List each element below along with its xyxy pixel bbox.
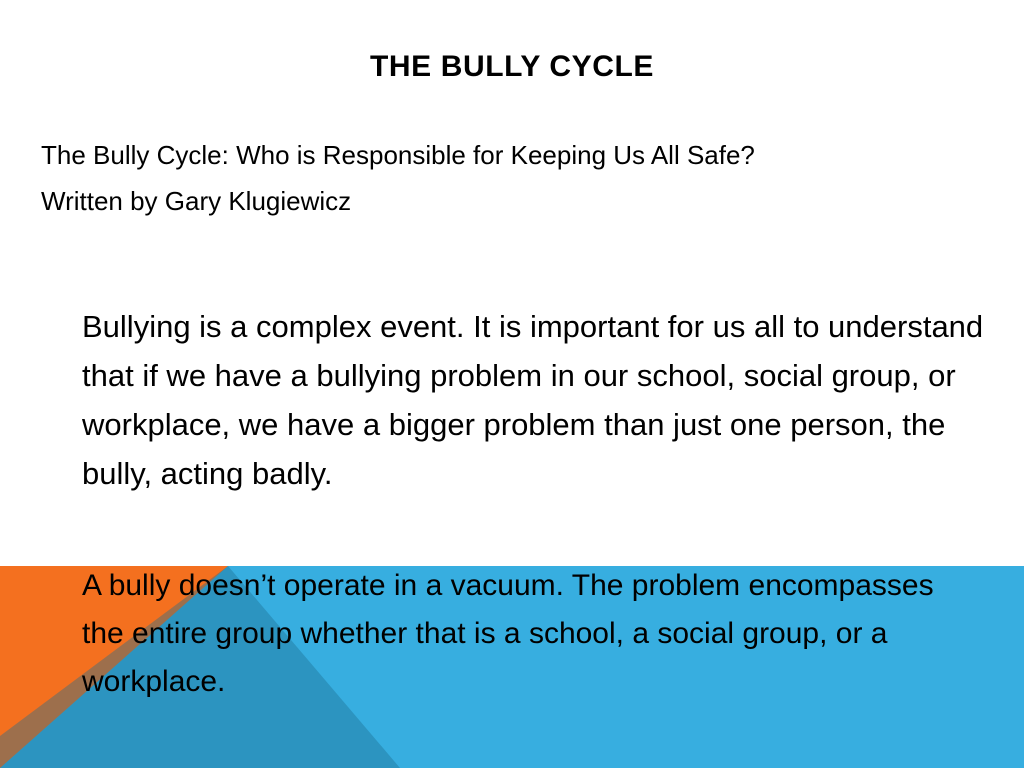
slide-canvas: THE BULLY CYCLE The Bully Cycle: Who is …	[0, 0, 1024, 768]
subtitle-line-1: The Bully Cycle: Who is Responsible for …	[41, 132, 971, 178]
page-title: THE BULLY CYCLE	[0, 50, 1024, 84]
subtitle-block: The Bully Cycle: Who is Responsible for …	[41, 132, 971, 224]
body-paragraph-2: A bully doesn’t operate in a vacuum. The…	[82, 562, 962, 706]
body-paragraph-1: Bullying is a complex event. It is impor…	[82, 302, 997, 498]
subtitle-line-2: Written by Gary Klugiewicz	[41, 178, 971, 224]
